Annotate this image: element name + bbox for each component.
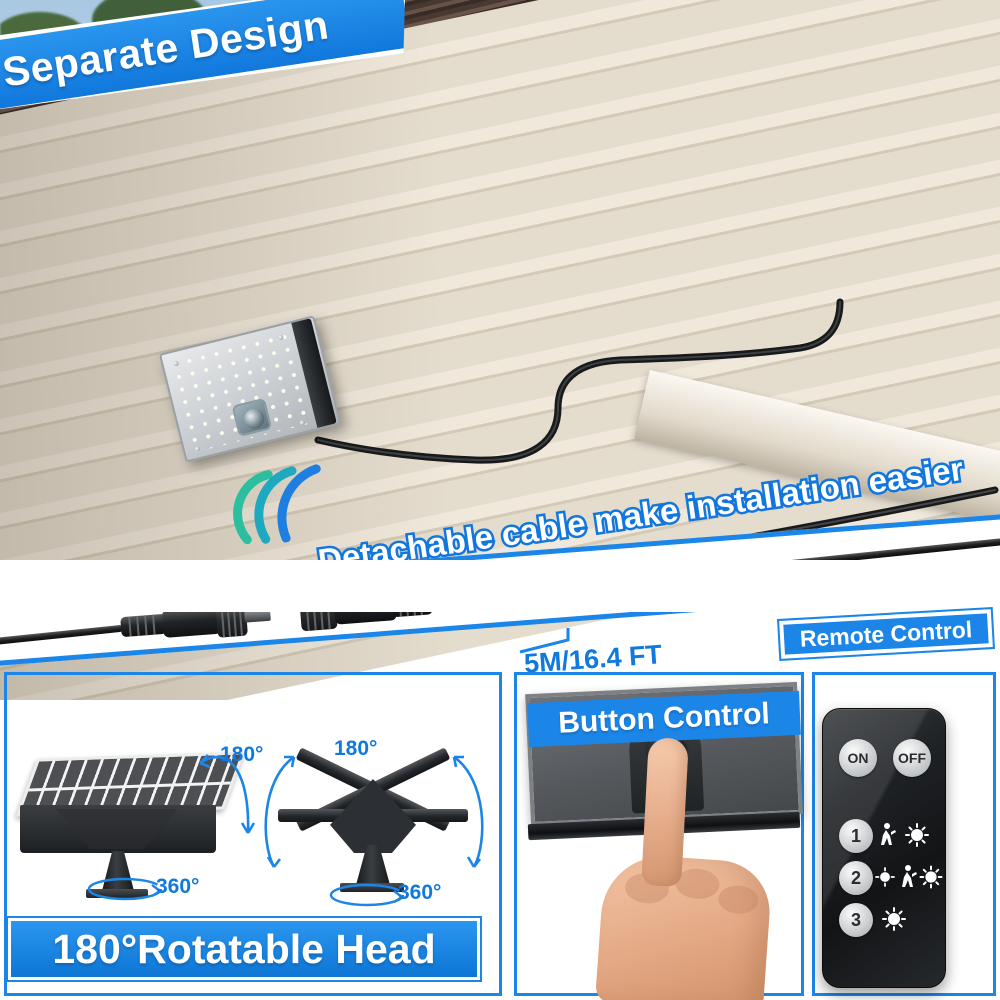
mode-3-dimsun-icon [879, 905, 913, 935]
hand-illustration [595, 852, 773, 1000]
cable-length-leader-line [516, 626, 576, 656]
housing-screw [299, 420, 305, 426]
remote-mode-3-button[interactable]: 3 [839, 903, 873, 937]
head-center-cone [330, 779, 416, 853]
remote-mode-1-button[interactable]: 1 [839, 819, 873, 853]
mode-2-dimsun-person-sun-icon [873, 863, 943, 893]
banner-rotatable-head-label: 180°Rotatable Head [11, 921, 477, 977]
cable-segment-left [0, 625, 123, 650]
remote-on-button[interactable]: ON [839, 739, 877, 777]
head-tilt-arc-left [254, 745, 300, 877]
panel-spin-degree-label: 360° [156, 875, 199, 899]
housing-screw [194, 446, 200, 452]
head-tilt-arc-right [448, 745, 494, 877]
light-head-illustration [278, 763, 468, 883]
cable-plug-strain-relief [120, 614, 167, 637]
head-tilt-degree-label: 180° [334, 737, 377, 761]
remote-off-button[interactable]: OFF [893, 739, 931, 777]
remote-mode-2-button[interactable]: 2 [839, 861, 873, 895]
head-spin-degree-label: 360° [398, 881, 441, 905]
motion-sensor-dome [242, 407, 266, 431]
remote-control-device: ON OFF 1 2 3 [822, 708, 946, 988]
mode-1-person-sun-icon [879, 821, 937, 851]
rotation-diagram: 180° 360° 180° [8, 735, 478, 915]
infographic-canvas: Separate Design Detachable cable make in… [0, 0, 1000, 1000]
pointing-finger [641, 737, 689, 887]
banner-remote-control-label: Remote Control [783, 613, 988, 654]
banner-rotatable-head: 180°Rotatable Head [8, 918, 480, 980]
band-mask [0, 560, 1000, 612]
